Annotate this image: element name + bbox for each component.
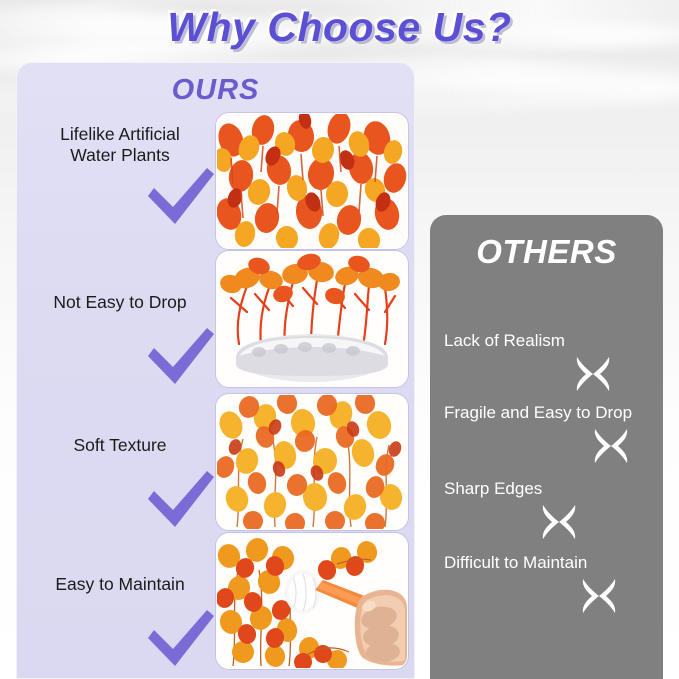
others-drawback-label: Fragile and Easy to Drop <box>444 403 632 423</box>
ours-feature-image <box>216 113 408 249</box>
photo-cleaning-brush <box>217 534 407 668</box>
x-mark-icon <box>590 425 632 467</box>
others-drawback-label: Sharp Edges <box>444 479 542 499</box>
ours-feature-label: Easy to Maintain <box>22 574 218 595</box>
ours-panel: OURS Lifelike Artificial Water Plants <box>16 62 415 679</box>
ours-feature-label: Soft Texture <box>22 435 218 456</box>
ours-feature-label-line1: Soft Texture <box>22 435 218 456</box>
photo-dense-plants <box>217 114 407 248</box>
ours-feature-image <box>216 394 408 530</box>
ours-feature-label: Lifelike Artificial Water Plants <box>22 124 218 167</box>
x-mark-icon <box>578 575 620 617</box>
ours-feature-row: Soft Texture <box>16 391 415 531</box>
ours-heading: OURS <box>16 74 415 107</box>
photo-weighted-base <box>217 252 407 386</box>
others-drawback-label: Difficult to Maintain <box>444 553 587 573</box>
check-icon <box>144 608 216 670</box>
ours-feature-row: Not Easy to Drop <box>16 248 415 388</box>
ours-feature-label: Not Easy to Drop <box>22 292 218 313</box>
ours-feature-label-line1: Not Easy to Drop <box>22 292 218 313</box>
comparison-infographic: Why Choose Us? OURS Lifelike Artificial … <box>0 0 679 679</box>
check-icon <box>144 326 216 388</box>
page-title: Why Choose Us? <box>0 4 679 51</box>
ours-feature-image <box>216 533 408 669</box>
photo-soft-leaves <box>217 395 407 529</box>
others-drawback-label: Lack of Realism <box>444 331 565 351</box>
ours-feature-row: Easy to Maintain <box>16 530 415 670</box>
ours-feature-label-line1: Lifelike Artificial <box>22 124 218 145</box>
check-icon <box>144 469 216 531</box>
ours-feature-label-line2: Water Plants <box>22 145 218 166</box>
check-icon <box>144 166 216 228</box>
others-heading: OTHERS <box>430 233 663 271</box>
ours-feature-image <box>216 251 408 387</box>
ours-feature-row: Lifelike Artificial Water Plants <box>16 110 415 250</box>
x-mark-icon <box>538 501 580 543</box>
others-panel: OTHERS Lack of Realism Fragile and Easy … <box>430 215 663 679</box>
x-mark-icon <box>572 353 614 395</box>
ours-feature-label-line1: Easy to Maintain <box>22 574 218 595</box>
